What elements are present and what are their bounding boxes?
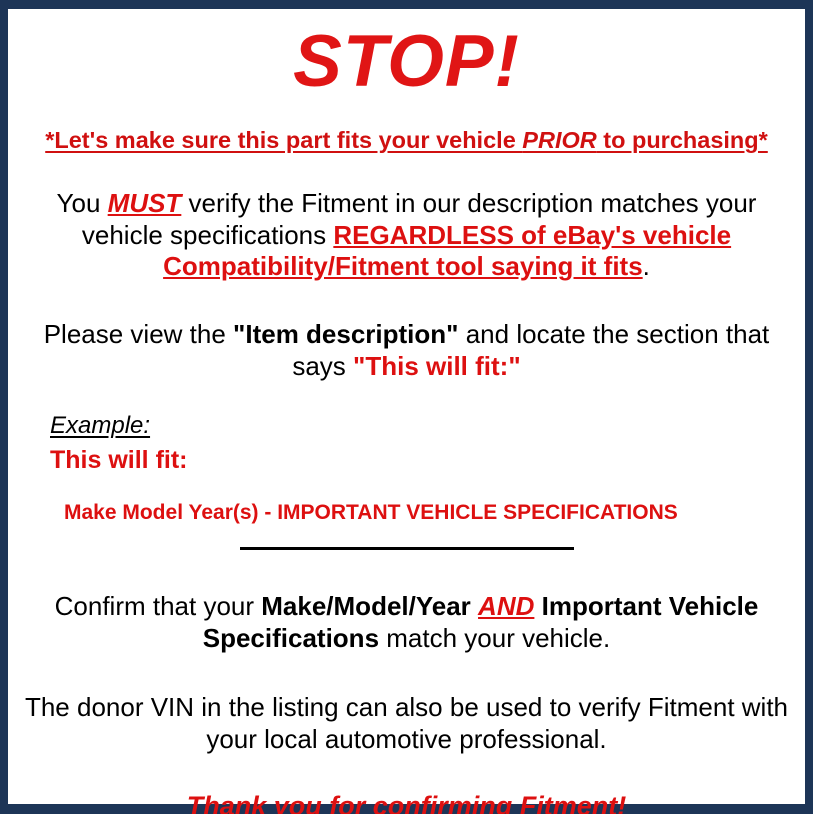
example-label: Example:: [50, 412, 791, 440]
section-divider: [240, 547, 574, 550]
must-verify-paragraph: You MUST verify the Fitment in our descr…: [22, 154, 791, 283]
subtitle-tail-text: to purchasing*: [597, 127, 768, 153]
example-fit-heading: This will fit:: [50, 440, 791, 478]
notice-inner-panel: STOP! *Let's make sure this part fits yo…: [8, 9, 805, 804]
emphasis-make-model-year: Make/Model/Year: [261, 591, 471, 621]
subtitle-line: *Let's make sure this part fits your veh…: [22, 98, 791, 154]
subtitle-lead-text: *Let's make sure this part fits your veh…: [45, 127, 522, 153]
emphasis-item-description: "Item description": [233, 319, 458, 349]
view-description-paragraph: Please view the "Item description" and l…: [22, 283, 791, 382]
donor-vin-paragraph: The donor VIN in the listing can also be…: [22, 654, 791, 755]
confirm-paragraph-part2: match your vehicle.: [379, 623, 610, 653]
fitment-notice-banner: STOP! *Let's make sure this part fits yo…: [0, 0, 813, 814]
divider-wrapper: [22, 525, 791, 567]
must-paragraph-part3: .: [643, 251, 650, 281]
emphasis-must: MUST: [108, 188, 182, 218]
emphasis-this-will-fit: "This will fit:": [353, 351, 521, 381]
example-spec-line: Make Model Year(s) - IMPORTANT VEHICLE S…: [50, 478, 791, 525]
subtitle-emphasis-prior: PRIOR: [522, 127, 596, 153]
emphasis-and: AND: [478, 591, 534, 621]
example-block: Example: This will fit: Make Model Year(…: [22, 382, 791, 525]
view-paragraph-part1: Please view the: [44, 319, 233, 349]
confirm-paragraph-part1: Confirm that your: [55, 591, 262, 621]
confirm-paragraph: Confirm that your Make/Model/Year AND Im…: [22, 567, 791, 654]
must-paragraph-part1: You: [57, 188, 108, 218]
page-title: STOP!: [22, 9, 791, 98]
thank-you-message: Thank you for confirming Fitment!: [22, 756, 791, 814]
